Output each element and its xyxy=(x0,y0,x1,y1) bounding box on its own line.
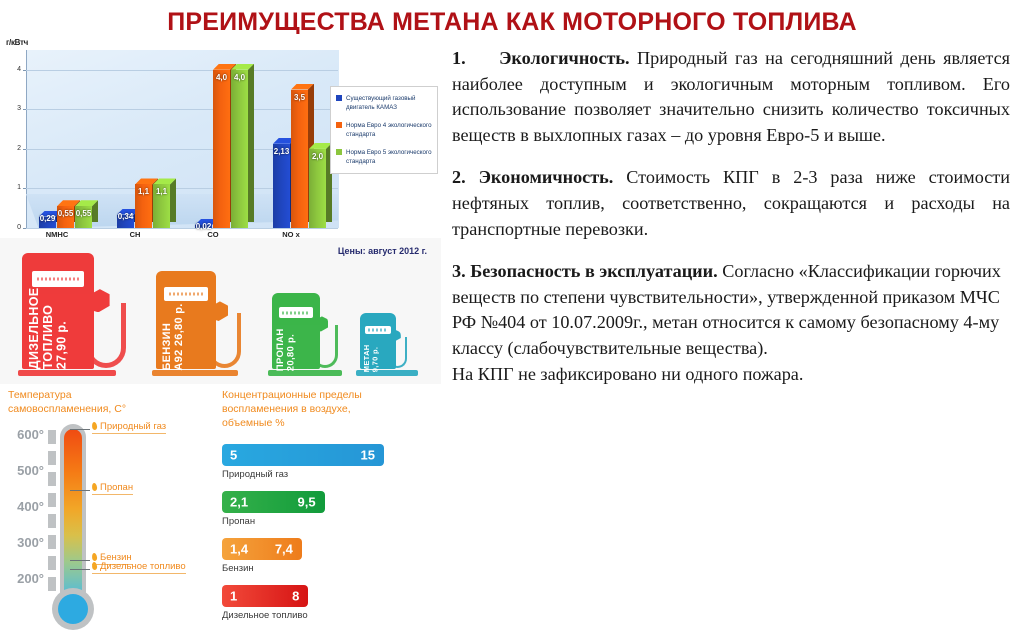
pump-fuel-price: 9,70 р. xyxy=(370,347,379,372)
thermometer-bulb xyxy=(52,588,94,630)
chart-bar-value-label: 2,13 xyxy=(271,147,292,156)
legend-label: Существующий газовый двигатель КАМАЗ xyxy=(346,94,432,112)
chart-bar-value-label: 3,5 xyxy=(289,93,310,102)
pump-base xyxy=(152,370,238,376)
price-date-note: Цены: август 2012 г. xyxy=(338,246,427,256)
chart-y-tick-mark xyxy=(23,228,26,229)
chart-legend-item[interactable]: Норма Евро 4 экологического стандарта xyxy=(336,121,432,139)
thermometer-marker-text: Дизельное топливо xyxy=(100,561,186,572)
pump-base xyxy=(18,370,116,376)
pump-fuel-price: 26,80 р. xyxy=(173,303,185,349)
chart-bar-value-label: 4,0 xyxy=(229,73,250,82)
pump-label: МЕТАН 9,70 р. xyxy=(363,333,380,372)
chart-bar-value-label: 0,55 xyxy=(73,209,94,218)
flammability-row: 2,19,5Пропан xyxy=(222,491,437,527)
thermometer-heading: Температурасамовоспламенения, С° xyxy=(8,388,126,416)
left-infographic-column: г/кВтч 01234 0,290,550,550,341,11,10,024… xyxy=(0,34,441,636)
flame-icon xyxy=(91,562,97,571)
chart-y-tick-label: 3 xyxy=(6,105,21,112)
legend-swatch-icon xyxy=(336,149,342,155)
thermometer-tube xyxy=(60,424,86,596)
emission-bar-chart: г/кВтч 01234 0,290,550,550,341,11,10,024… xyxy=(0,34,441,238)
fuel-pump-4: МЕТАН 9,70 р. xyxy=(356,310,426,376)
chart-legend: Существующий газовый двигатель КАМАЗНорм… xyxy=(330,86,438,174)
flammability-lower-limit: 1 xyxy=(230,589,237,604)
flammability-fuel-name: Бензин xyxy=(222,563,437,574)
chart-bar-value-label: 2,0 xyxy=(307,152,328,161)
legend-label: Норма Евро 5 экологического стандарта xyxy=(346,148,432,166)
flammability-upper-limit: 8 xyxy=(292,589,299,604)
chart-y-axis-unit: г/кВтч xyxy=(6,38,28,47)
paragraph-economy: 2. Экономичность. Стоимость КПГ в 2-3 ра… xyxy=(452,165,1010,242)
chart-y-tick-label: 0 xyxy=(6,224,21,231)
flame-icon xyxy=(91,483,97,492)
legend-swatch-icon xyxy=(336,95,342,101)
pump-display-screen xyxy=(32,271,84,287)
thermometer-marker-label: Пропан xyxy=(92,482,133,495)
thermometer-marker-line xyxy=(70,490,90,491)
flammability-rows: 515Природный газ2,19,5Пропан1,47,4Бензин… xyxy=(222,444,437,621)
pump-display-screen xyxy=(279,307,314,318)
paragraph-3-body-2: На КПГ не зафиксировано ни одного пожара… xyxy=(452,364,803,384)
pump-display-screen xyxy=(164,287,207,301)
flammability-row: 515Природный газ xyxy=(222,444,437,480)
thermometer-marker-text: Природный газ xyxy=(100,421,166,432)
thermometer-marker-line xyxy=(70,560,90,561)
flame-icon xyxy=(91,422,97,431)
legend-label: Норма Евро 4 экологического стандарта xyxy=(346,121,432,139)
paragraph-2-heading: 2. Экономичность. xyxy=(452,167,613,187)
fuel-price-pumps: Цены: август 2012 г. ДИЗЕЛЬНОЕ ТОПЛИВО 2… xyxy=(0,238,441,384)
chart-y-tick-mark xyxy=(23,70,26,71)
pump-label: ПРОПАН 20,80 р. xyxy=(276,318,297,371)
paragraph-1-heading: Экологичность. xyxy=(499,48,629,68)
thermometer-heading-line: самовоспламенения, С° xyxy=(8,402,126,416)
thermometer-bulb-fill xyxy=(58,594,88,624)
thermometer-heading-line: Температура xyxy=(8,388,126,402)
thermometer-marker-label: Природный газ xyxy=(92,421,166,434)
pump-label: БЕНЗИН А92 26,80 р. xyxy=(161,302,185,371)
thermometer-marker-line xyxy=(70,429,90,430)
thermometer-scale-label: 400° xyxy=(8,499,44,514)
pump-fuel-price: 27,90 р. xyxy=(54,321,68,369)
flammability-upper-limit: 9,5 xyxy=(298,495,316,510)
chart-bar[interactable] xyxy=(231,70,248,228)
flammability-fuel-name: Пропан xyxy=(222,516,437,527)
pump-fuel-price: 20,80 р. xyxy=(285,334,296,371)
thermometer-marker-text: Пропан xyxy=(100,482,133,493)
thermometer-scale-label: 600° xyxy=(8,427,44,442)
flammability-row: 18Дизельное топливо xyxy=(222,585,437,621)
pump-display-digits xyxy=(37,277,78,280)
chart-bar[interactable] xyxy=(273,144,290,228)
chart-y-tick-mark xyxy=(23,149,26,150)
flammability-lower-limit: 5 xyxy=(230,448,237,463)
flammability-row: 1,47,4Бензин xyxy=(222,538,437,574)
pump-display-digits xyxy=(169,293,204,296)
paragraph-ecology: 1. Экологичность. Природный газ на сегод… xyxy=(452,46,1010,148)
paragraph-3-heading: 3. Безопасность в эксплуатации. xyxy=(452,261,718,281)
pump-display-digits xyxy=(282,311,310,314)
fuel-pump-2: БЕНЗИН А92 26,80 р. xyxy=(152,268,246,376)
chart-bar[interactable] xyxy=(291,90,308,228)
thermometer-marker-label: Дизельное топливо xyxy=(92,561,186,574)
flammability-bar[interactable]: 515 xyxy=(222,444,384,466)
flammability-lower-limit: 2,1 xyxy=(230,495,248,510)
benefits-text-column: 1. Экологичность. Природный газ на сегод… xyxy=(452,46,1010,404)
flammability-bar[interactable]: 18 xyxy=(222,585,308,607)
flammability-upper-limit: 15 xyxy=(361,448,375,463)
flammability-fuel-name: Природный газ xyxy=(222,469,437,480)
pump-display-digits xyxy=(368,328,389,331)
flammability-lower-limit: 1,4 xyxy=(230,542,248,557)
chart-y-tick-label: 4 xyxy=(6,66,21,73)
chart-y-tick-mark xyxy=(23,188,26,189)
paragraph-1-number: 1. xyxy=(452,48,466,68)
chart-bar-side xyxy=(248,64,254,222)
paragraph-safety: 3. Безопасность в эксплуатации. Согласно… xyxy=(452,259,1010,387)
chart-bar[interactable] xyxy=(213,70,230,228)
chart-bar-value-label: 0,34 xyxy=(115,212,136,221)
chart-bar-side xyxy=(170,178,176,222)
thermometer-marker-line xyxy=(70,569,90,570)
chart-gridline xyxy=(26,70,338,71)
thermometer-scale-label: 300° xyxy=(8,535,44,550)
thermometer-chart: 600°500°400°300°200° Природный газПропан… xyxy=(8,422,213,632)
flammability-heading: Концентрационные пределывоспламенения в … xyxy=(222,388,437,430)
chart-y-tick-label: 2 xyxy=(6,145,21,152)
chart-gridline xyxy=(26,228,338,229)
page-title: ПРЕИМУЩЕСТВА МЕТАНА КАК МОТОРНОГО ТОПЛИВ… xyxy=(0,8,1024,37)
safety-properties-section: Температурасамовоспламенения, С° 600°500… xyxy=(0,384,441,636)
chart-legend-item[interactable]: Норма Евро 5 экологического стандарта xyxy=(336,148,432,166)
chart-bar-value-label: 1,1 xyxy=(151,187,172,196)
flammability-heading-line: воспламенения в воздухе, xyxy=(222,402,437,416)
flammability-heading-line: объемные % xyxy=(222,416,437,430)
thermometer-scale-label: 500° xyxy=(8,463,44,478)
chart-legend-item[interactable]: Существующий газовый двигатель КАМАЗ xyxy=(336,94,432,112)
pump-fuel-name: ПРОПАН xyxy=(275,329,286,372)
fuel-pump-1: ДИЗЕЛЬНОЕ ТОПЛИВО 27,90 р. xyxy=(18,250,124,376)
chart-y-tick-label: 1 xyxy=(6,184,21,191)
legend-swatch-icon xyxy=(336,122,342,128)
fuel-pump-3: ПРОПАН 20,80 р. xyxy=(268,290,350,376)
flammability-heading-line: Концентрационные пределы xyxy=(222,388,437,402)
chart-y-tick-mark xyxy=(23,109,26,110)
thermometer-ruler xyxy=(48,430,56,594)
pump-fuel-name: ДИЗЕЛЬНОЕ ТОПЛИВО xyxy=(27,287,55,369)
thermometer-scale-label: 200° xyxy=(8,571,44,586)
flammability-upper-limit: 7,4 xyxy=(275,542,293,557)
pump-label: ДИЗЕЛЬНОЕ ТОПЛИВО 27,90 р. xyxy=(28,288,69,369)
flammability-bar[interactable]: 1,47,4 xyxy=(222,538,302,560)
flammability-chart: Концентрационные пределывоспламенения в … xyxy=(222,388,437,632)
flammability-bar[interactable]: 2,19,5 xyxy=(222,491,325,513)
flammability-fuel-name: Дизельное топливо xyxy=(222,610,437,621)
